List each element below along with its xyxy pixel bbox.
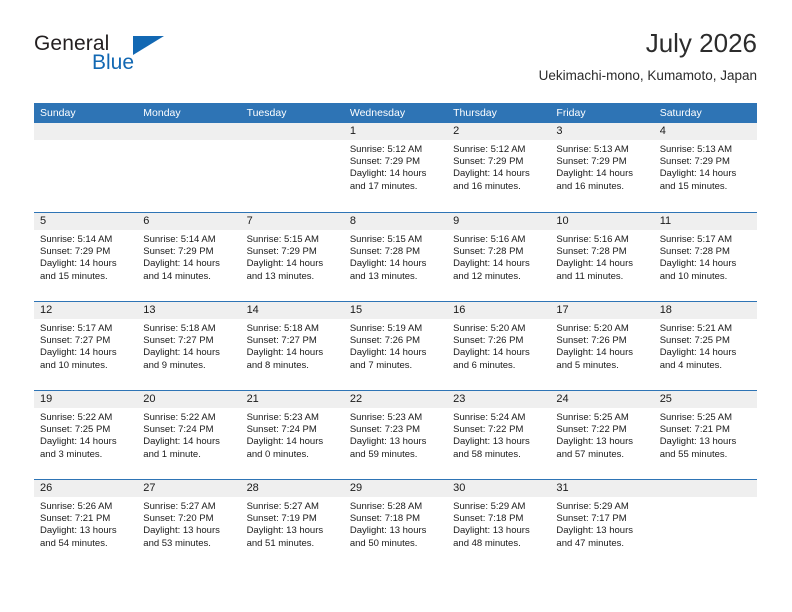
sunset-text: Sunset: 7:22 PM [453,424,544,436]
calendar-day-cell[interactable]: 26Sunrise: 5:26 AMSunset: 7:21 PMDayligh… [34,480,137,568]
weekday-header-friday: Friday [550,103,653,123]
daylight-text-line2: and 57 minutes. [556,449,647,461]
sunset-text: Sunset: 7:18 PM [350,513,441,525]
day-number: 19 [34,391,137,408]
daylight-text-line2: and 9 minutes. [143,360,234,372]
logo-word-blue: Blue [92,51,134,75]
sunrise-text: Sunrise: 5:16 AM [453,234,544,246]
daylight-text-line1: Daylight: 14 hours [247,258,338,270]
daylight-text-line2: and 16 minutes. [453,181,544,193]
day-details: Sunrise: 5:15 AMSunset: 7:28 PMDaylight:… [344,230,447,283]
day-details: Sunrise: 5:27 AMSunset: 7:19 PMDaylight:… [241,497,344,550]
day-number: 7 [241,213,344,230]
weekday-header-tuesday: Tuesday [241,103,344,123]
sunset-text: Sunset: 7:28 PM [556,246,647,258]
calendar-day-cell[interactable]: 18Sunrise: 5:21 AMSunset: 7:25 PMDayligh… [654,302,757,390]
daylight-text-line1: Daylight: 14 hours [453,168,544,180]
day-details: Sunrise: 5:26 AMSunset: 7:21 PMDaylight:… [34,497,137,550]
sunrise-text: Sunrise: 5:24 AM [453,412,544,424]
day-number: 27 [137,480,240,497]
day-number: 17 [550,302,653,319]
daylight-text-line1: Daylight: 13 hours [350,436,441,448]
calendar-week-row: 19Sunrise: 5:22 AMSunset: 7:25 PMDayligh… [34,390,757,479]
daylight-text-line2: and 59 minutes. [350,449,441,461]
day-details: Sunrise: 5:23 AMSunset: 7:23 PMDaylight:… [344,408,447,461]
daylight-text-line2: and 16 minutes. [556,181,647,193]
day-number: 23 [447,391,550,408]
day-number: 2 [447,123,550,140]
day-number [34,123,137,140]
sunrise-text: Sunrise: 5:21 AM [660,323,751,335]
calendar-day-cell[interactable]: 16Sunrise: 5:20 AMSunset: 7:26 PMDayligh… [447,302,550,390]
day-number: 28 [241,480,344,497]
calendar-grid: SundayMondayTuesdayWednesdayThursdayFrid… [34,103,757,568]
logo-triangle-icon [133,36,164,55]
sunrise-text: Sunrise: 5:12 AM [453,144,544,156]
day-details: Sunrise: 5:29 AMSunset: 7:17 PMDaylight:… [550,497,653,550]
daylight-text-line2: and 51 minutes. [247,538,338,550]
day-number: 10 [550,213,653,230]
calendar-cell-empty [241,123,344,212]
day-details: Sunrise: 5:16 AMSunset: 7:28 PMDaylight:… [447,230,550,283]
weekday-header-wednesday: Wednesday [344,103,447,123]
calendar-day-cell[interactable]: 30Sunrise: 5:29 AMSunset: 7:18 PMDayligh… [447,480,550,568]
daylight-text-line2: and 50 minutes. [350,538,441,550]
sunrise-text: Sunrise: 5:14 AM [40,234,131,246]
calendar-day-cell[interactable]: 15Sunrise: 5:19 AMSunset: 7:26 PMDayligh… [344,302,447,390]
daylight-text-line1: Daylight: 14 hours [453,258,544,270]
daylight-text-line2: and 8 minutes. [247,360,338,372]
calendar-cell-empty [654,480,757,568]
day-number: 11 [654,213,757,230]
daylight-text-line2: and 55 minutes. [660,449,751,461]
daylight-text-line1: Daylight: 14 hours [660,347,751,359]
daylight-text-line2: and 58 minutes. [453,449,544,461]
sunset-text: Sunset: 7:28 PM [350,246,441,258]
daylight-text-line2: and 17 minutes. [350,181,441,193]
sunset-text: Sunset: 7:28 PM [660,246,751,258]
sunset-text: Sunset: 7:25 PM [40,424,131,436]
day-number: 1 [344,123,447,140]
sunset-text: Sunset: 7:29 PM [556,156,647,168]
day-number: 15 [344,302,447,319]
sunrise-text: Sunrise: 5:14 AM [143,234,234,246]
day-details: Sunrise: 5:15 AMSunset: 7:29 PMDaylight:… [241,230,344,283]
sunrise-text: Sunrise: 5:15 AM [247,234,338,246]
daylight-text-line1: Daylight: 13 hours [660,436,751,448]
day-details: Sunrise: 5:24 AMSunset: 7:22 PMDaylight:… [447,408,550,461]
calendar-day-cell[interactable]: 13Sunrise: 5:18 AMSunset: 7:27 PMDayligh… [137,302,240,390]
daylight-text-line2: and 48 minutes. [453,538,544,550]
daylight-text-line1: Daylight: 14 hours [40,347,131,359]
sunset-text: Sunset: 7:29 PM [350,156,441,168]
sunrise-text: Sunrise: 5:26 AM [40,501,131,513]
calendar-day-cell[interactable]: 5Sunrise: 5:14 AMSunset: 7:29 PMDaylight… [34,213,137,301]
calendar-day-cell[interactable]: 25Sunrise: 5:25 AMSunset: 7:21 PMDayligh… [654,391,757,479]
daylight-text-line2: and 0 minutes. [247,449,338,461]
calendar-day-cell[interactable]: 3Sunrise: 5:13 AMSunset: 7:29 PMDaylight… [550,123,653,212]
daylight-text-line1: Daylight: 14 hours [556,168,647,180]
sunset-text: Sunset: 7:18 PM [453,513,544,525]
day-number: 29 [344,480,447,497]
day-number: 25 [654,391,757,408]
page-title: July 2026 [539,28,757,58]
sunrise-text: Sunrise: 5:17 AM [660,234,751,246]
day-number [654,480,757,497]
sunset-text: Sunset: 7:21 PM [40,513,131,525]
calendar-day-cell[interactable]: 27Sunrise: 5:27 AMSunset: 7:20 PMDayligh… [137,480,240,568]
sunset-text: Sunset: 7:27 PM [143,335,234,347]
sunset-text: Sunset: 7:29 PM [660,156,751,168]
sunset-text: Sunset: 7:20 PM [143,513,234,525]
day-details: Sunrise: 5:20 AMSunset: 7:26 PMDaylight:… [550,319,653,372]
sunrise-text: Sunrise: 5:16 AM [556,234,647,246]
page-subtitle: Uekimachi-mono, Kumamoto, Japan [539,66,757,86]
calendar-day-cell[interactable]: 10Sunrise: 5:16 AMSunset: 7:28 PMDayligh… [550,213,653,301]
day-number: 31 [550,480,653,497]
daylight-text-line1: Daylight: 13 hours [453,525,544,537]
daylight-text-line2: and 12 minutes. [453,271,544,283]
sunset-text: Sunset: 7:29 PM [247,246,338,258]
calendar-week-row: 26Sunrise: 5:26 AMSunset: 7:21 PMDayligh… [34,479,757,568]
day-number: 8 [344,213,447,230]
day-details: Sunrise: 5:17 AMSunset: 7:27 PMDaylight:… [34,319,137,372]
day-number: 6 [137,213,240,230]
daylight-text-line2: and 15 minutes. [660,181,751,193]
calendar-week-row: 1Sunrise: 5:12 AMSunset: 7:29 PMDaylight… [34,123,757,212]
daylight-text-line1: Daylight: 14 hours [350,258,441,270]
day-details: Sunrise: 5:21 AMSunset: 7:25 PMDaylight:… [654,319,757,372]
daylight-text-line2: and 1 minute. [143,449,234,461]
sunrise-text: Sunrise: 5:19 AM [350,323,441,335]
day-details: Sunrise: 5:17 AMSunset: 7:28 PMDaylight:… [654,230,757,283]
sunrise-text: Sunrise: 5:22 AM [143,412,234,424]
sunrise-text: Sunrise: 5:20 AM [556,323,647,335]
day-details: Sunrise: 5:12 AMSunset: 7:29 PMDaylight:… [447,140,550,193]
weekday-header-saturday: Saturday [654,103,757,123]
daylight-text-line2: and 47 minutes. [556,538,647,550]
calendar-cell-empty [34,123,137,212]
calendar-day-cell[interactable]: 8Sunrise: 5:15 AMSunset: 7:28 PMDaylight… [344,213,447,301]
day-details: Sunrise: 5:16 AMSunset: 7:28 PMDaylight:… [550,230,653,283]
day-number: 14 [241,302,344,319]
sunrise-text: Sunrise: 5:23 AM [247,412,338,424]
sunset-text: Sunset: 7:24 PM [247,424,338,436]
sunset-text: Sunset: 7:24 PM [143,424,234,436]
daylight-text-line2: and 13 minutes. [350,271,441,283]
daylight-text-line1: Daylight: 14 hours [40,436,131,448]
calendar-day-cell[interactable]: 23Sunrise: 5:24 AMSunset: 7:22 PMDayligh… [447,391,550,479]
daylight-text-line1: Daylight: 14 hours [556,347,647,359]
calendar-page: General Blue July 2026 Uekimachi-mono, K… [0,0,792,612]
day-number: 21 [241,391,344,408]
sunrise-text: Sunrise: 5:25 AM [556,412,647,424]
day-number: 5 [34,213,137,230]
daylight-text-line1: Daylight: 14 hours [143,347,234,359]
day-details: Sunrise: 5:18 AMSunset: 7:27 PMDaylight:… [241,319,344,372]
sunset-text: Sunset: 7:26 PM [556,335,647,347]
day-number [137,123,240,140]
daylight-text-line1: Daylight: 14 hours [350,347,441,359]
daylight-text-line1: Daylight: 13 hours [556,525,647,537]
day-details: Sunrise: 5:20 AMSunset: 7:26 PMDaylight:… [447,319,550,372]
sunrise-text: Sunrise: 5:13 AM [660,144,751,156]
sunset-text: Sunset: 7:17 PM [556,513,647,525]
sunrise-text: Sunrise: 5:13 AM [556,144,647,156]
sunset-text: Sunset: 7:26 PM [453,335,544,347]
day-details: Sunrise: 5:28 AMSunset: 7:18 PMDaylight:… [344,497,447,550]
daylight-text-line2: and 5 minutes. [556,360,647,372]
day-number: 16 [447,302,550,319]
daylight-text-line1: Daylight: 14 hours [143,258,234,270]
calendar-day-cell[interactable]: 11Sunrise: 5:17 AMSunset: 7:28 PMDayligh… [654,213,757,301]
day-details: Sunrise: 5:14 AMSunset: 7:29 PMDaylight:… [34,230,137,283]
sunrise-text: Sunrise: 5:18 AM [143,323,234,335]
daylight-text-line1: Daylight: 13 hours [556,436,647,448]
general-blue-logo: General Blue [34,32,254,82]
daylight-text-line1: Daylight: 13 hours [350,525,441,537]
day-details: Sunrise: 5:13 AMSunset: 7:29 PMDaylight:… [550,140,653,193]
sunrise-text: Sunrise: 5:28 AM [350,501,441,513]
day-number: 30 [447,480,550,497]
daylight-text-line2: and 14 minutes. [143,271,234,283]
daylight-text-line2: and 11 minutes. [556,271,647,283]
day-number: 24 [550,391,653,408]
daylight-text-line1: Daylight: 13 hours [247,525,338,537]
calendar-day-cell[interactable]: 7Sunrise: 5:15 AMSunset: 7:29 PMDaylight… [241,213,344,301]
calendar-day-cell[interactable]: 6Sunrise: 5:14 AMSunset: 7:29 PMDaylight… [137,213,240,301]
day-details: Sunrise: 5:14 AMSunset: 7:29 PMDaylight:… [137,230,240,283]
daylight-text-line1: Daylight: 14 hours [453,347,544,359]
sunset-text: Sunset: 7:21 PM [660,424,751,436]
daylight-text-line1: Daylight: 14 hours [40,258,131,270]
sunrise-text: Sunrise: 5:17 AM [40,323,131,335]
day-details: Sunrise: 5:23 AMSunset: 7:24 PMDaylight:… [241,408,344,461]
weekday-header-row: SundayMondayTuesdayWednesdayThursdayFrid… [34,103,757,123]
daylight-text-line1: Daylight: 13 hours [143,525,234,537]
day-details: Sunrise: 5:12 AMSunset: 7:29 PMDaylight:… [344,140,447,193]
sunrise-text: Sunrise: 5:27 AM [143,501,234,513]
day-number: 4 [654,123,757,140]
day-number: 22 [344,391,447,408]
weekday-header-sunday: Sunday [34,103,137,123]
title-block: July 2026 Uekimachi-mono, Kumamoto, Japa… [539,28,757,86]
sunrise-text: Sunrise: 5:12 AM [350,144,441,156]
day-number: 12 [34,302,137,319]
sunrise-text: Sunrise: 5:22 AM [40,412,131,424]
sunrise-text: Sunrise: 5:15 AM [350,234,441,246]
daylight-text-line1: Daylight: 13 hours [453,436,544,448]
day-details: Sunrise: 5:18 AMSunset: 7:27 PMDaylight:… [137,319,240,372]
sunrise-text: Sunrise: 5:29 AM [453,501,544,513]
daylight-text-line2: and 7 minutes. [350,360,441,372]
page-header: General Blue July 2026 Uekimachi-mono, K… [34,28,757,90]
sunset-text: Sunset: 7:27 PM [40,335,131,347]
day-number: 26 [34,480,137,497]
sunrise-text: Sunrise: 5:25 AM [660,412,751,424]
calendar-day-cell[interactable]: 28Sunrise: 5:27 AMSunset: 7:19 PMDayligh… [241,480,344,568]
day-details: Sunrise: 5:25 AMSunset: 7:22 PMDaylight:… [550,408,653,461]
sunrise-text: Sunrise: 5:20 AM [453,323,544,335]
daylight-text-line2: and 3 minutes. [40,449,131,461]
calendar-cell-empty [137,123,240,212]
calendar-day-cell[interactable]: 4Sunrise: 5:13 AMSunset: 7:29 PMDaylight… [654,123,757,212]
daylight-text-line1: Daylight: 14 hours [556,258,647,270]
daylight-text-line2: and 10 minutes. [40,360,131,372]
calendar-day-cell[interactable]: 12Sunrise: 5:17 AMSunset: 7:27 PMDayligh… [34,302,137,390]
day-details: Sunrise: 5:13 AMSunset: 7:29 PMDaylight:… [654,140,757,193]
sunset-text: Sunset: 7:19 PM [247,513,338,525]
daylight-text-line1: Daylight: 14 hours [247,347,338,359]
daylight-text-line1: Daylight: 13 hours [40,525,131,537]
daylight-text-line2: and 15 minutes. [40,271,131,283]
calendar-day-cell[interactable]: 21Sunrise: 5:23 AMSunset: 7:24 PMDayligh… [241,391,344,479]
sunset-text: Sunset: 7:23 PM [350,424,441,436]
calendar-day-cell[interactable]: 24Sunrise: 5:25 AMSunset: 7:22 PMDayligh… [550,391,653,479]
calendar-day-cell[interactable]: 1Sunrise: 5:12 AMSunset: 7:29 PMDaylight… [344,123,447,212]
sunset-text: Sunset: 7:28 PM [453,246,544,258]
day-number [241,123,344,140]
calendar-day-cell[interactable]: 2Sunrise: 5:12 AMSunset: 7:29 PMDaylight… [447,123,550,212]
daylight-text-line2: and 10 minutes. [660,271,751,283]
weekday-header-monday: Monday [137,103,240,123]
daylight-text-line1: Daylight: 14 hours [660,168,751,180]
daylight-text-line2: and 54 minutes. [40,538,131,550]
day-details: Sunrise: 5:19 AMSunset: 7:26 PMDaylight:… [344,319,447,372]
daylight-text-line1: Daylight: 14 hours [143,436,234,448]
daylight-text-line2: and 53 minutes. [143,538,234,550]
sunset-text: Sunset: 7:22 PM [556,424,647,436]
day-number: 18 [654,302,757,319]
sunset-text: Sunset: 7:29 PM [143,246,234,258]
daylight-text-line1: Daylight: 14 hours [660,258,751,270]
calendar-day-cell[interactable]: 9Sunrise: 5:16 AMSunset: 7:28 PMDaylight… [447,213,550,301]
daylight-text-line2: and 6 minutes. [453,360,544,372]
sunrise-text: Sunrise: 5:29 AM [556,501,647,513]
sunset-text: Sunset: 7:29 PM [453,156,544,168]
day-number: 13 [137,302,240,319]
day-details: Sunrise: 5:25 AMSunset: 7:21 PMDaylight:… [654,408,757,461]
daylight-text-line2: and 4 minutes. [660,360,751,372]
sunset-text: Sunset: 7:25 PM [660,335,751,347]
daylight-text-line2: and 13 minutes. [247,271,338,283]
calendar-day-cell[interactable]: 29Sunrise: 5:28 AMSunset: 7:18 PMDayligh… [344,480,447,568]
sunset-text: Sunset: 7:26 PM [350,335,441,347]
sunrise-text: Sunrise: 5:23 AM [350,412,441,424]
calendar-week-row: 5Sunrise: 5:14 AMSunset: 7:29 PMDaylight… [34,212,757,301]
calendar-day-cell[interactable]: 22Sunrise: 5:23 AMSunset: 7:23 PMDayligh… [344,391,447,479]
day-details: Sunrise: 5:29 AMSunset: 7:18 PMDaylight:… [447,497,550,550]
daylight-text-line1: Daylight: 14 hours [247,436,338,448]
calendar-day-cell[interactable]: 31Sunrise: 5:29 AMSunset: 7:17 PMDayligh… [550,480,653,568]
sunrise-text: Sunrise: 5:27 AM [247,501,338,513]
weekday-header-thursday: Thursday [447,103,550,123]
daylight-text-line1: Daylight: 14 hours [350,168,441,180]
sunset-text: Sunset: 7:29 PM [40,246,131,258]
day-number: 20 [137,391,240,408]
sunset-text: Sunset: 7:27 PM [247,335,338,347]
day-details: Sunrise: 5:27 AMSunset: 7:20 PMDaylight:… [137,497,240,550]
sunrise-text: Sunrise: 5:18 AM [247,323,338,335]
calendar-day-cell[interactable]: 17Sunrise: 5:20 AMSunset: 7:26 PMDayligh… [550,302,653,390]
day-number: 9 [447,213,550,230]
calendar-week-row: 12Sunrise: 5:17 AMSunset: 7:27 PMDayligh… [34,301,757,390]
calendar-weeks: 1Sunrise: 5:12 AMSunset: 7:29 PMDaylight… [34,123,757,568]
day-number: 3 [550,123,653,140]
calendar-day-cell[interactable]: 20Sunrise: 5:22 AMSunset: 7:24 PMDayligh… [137,391,240,479]
calendar-day-cell[interactable]: 14Sunrise: 5:18 AMSunset: 7:27 PMDayligh… [241,302,344,390]
day-details: Sunrise: 5:22 AMSunset: 7:24 PMDaylight:… [137,408,240,461]
day-details: Sunrise: 5:22 AMSunset: 7:25 PMDaylight:… [34,408,137,461]
calendar-day-cell[interactable]: 19Sunrise: 5:22 AMSunset: 7:25 PMDayligh… [34,391,137,479]
